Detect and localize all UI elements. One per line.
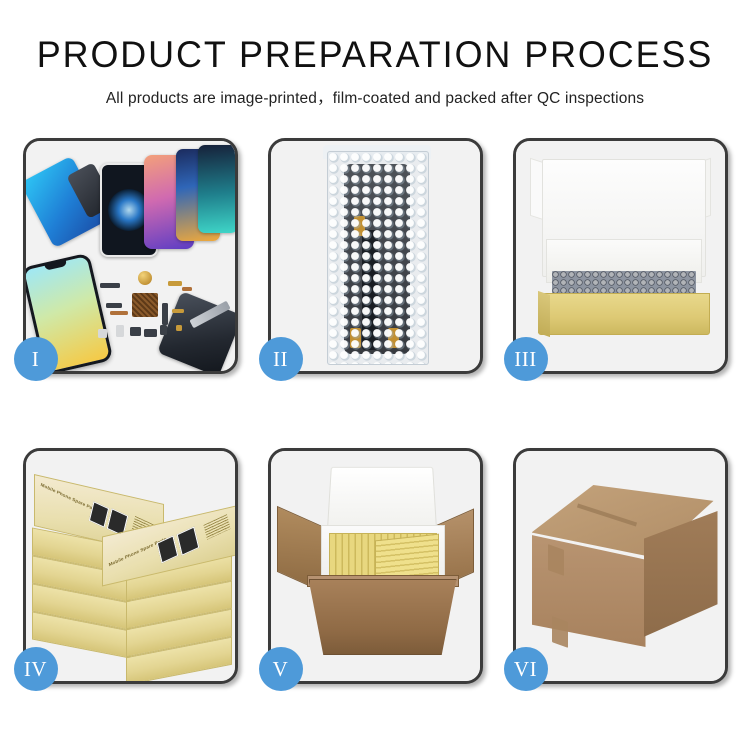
spare-parts-scatter [96, 269, 206, 364]
step-4-image: Mobile Phone Spare Parts Mobile Phone Sp… [26, 451, 235, 681]
carton-tape-upper [548, 544, 564, 576]
yellow-box-base [538, 293, 710, 335]
foam-box-lid [326, 467, 436, 530]
step-5-image [271, 451, 480, 681]
box-artwork-1a [88, 501, 108, 528]
page-header: PRODUCT PREPARATION PROCESS All products… [0, 0, 750, 108]
box-artwork-2b [176, 526, 199, 555]
step-badge-4: IV [14, 647, 58, 691]
box-spec-lines-2 [203, 514, 230, 540]
process-step-panel-2[interactable]: II [268, 138, 483, 374]
shipping-carton-open [309, 579, 457, 655]
step-badge-5: V [259, 647, 303, 691]
phone-teal-icon [198, 145, 235, 233]
process-step-panel-6[interactable]: VI [513, 448, 728, 684]
phone-blue-icon [26, 156, 106, 249]
process-step-grid: I II III [0, 138, 750, 684]
bubble-texture [328, 152, 428, 364]
step-badge-1: I [14, 337, 58, 381]
step-3-image [516, 141, 725, 371]
process-step-panel-4[interactable]: Mobile Phone Spare Parts Mobile Phone Sp… [23, 448, 238, 684]
step-badge-2: II [259, 337, 303, 381]
box-stack: Mobile Phone Spare Parts Mobile Phone Sp… [30, 467, 235, 673]
step-badge-6: VI [504, 647, 548, 691]
box-label-text-1: Mobile Phone Spare Parts [40, 482, 99, 513]
process-step-panel-5[interactable]: V [268, 448, 483, 684]
page-subtitle: All products are image-printed，film-coat… [0, 86, 750, 108]
process-step-panel-1[interactable]: I [23, 138, 238, 374]
step-2-image [271, 141, 480, 371]
box-label-text-2: Mobile Phone Spare Parts [108, 536, 167, 567]
process-step-panel-3[interactable]: III [513, 138, 728, 374]
step-badge-3: III [504, 337, 548, 381]
page-title: PRODUCT PREPARATION PROCESS [11, 36, 739, 75]
step-6-image [516, 451, 725, 681]
carton-tape-lower [552, 616, 568, 648]
bubble-wrap-bag [327, 151, 429, 365]
step-1-image [26, 141, 235, 371]
